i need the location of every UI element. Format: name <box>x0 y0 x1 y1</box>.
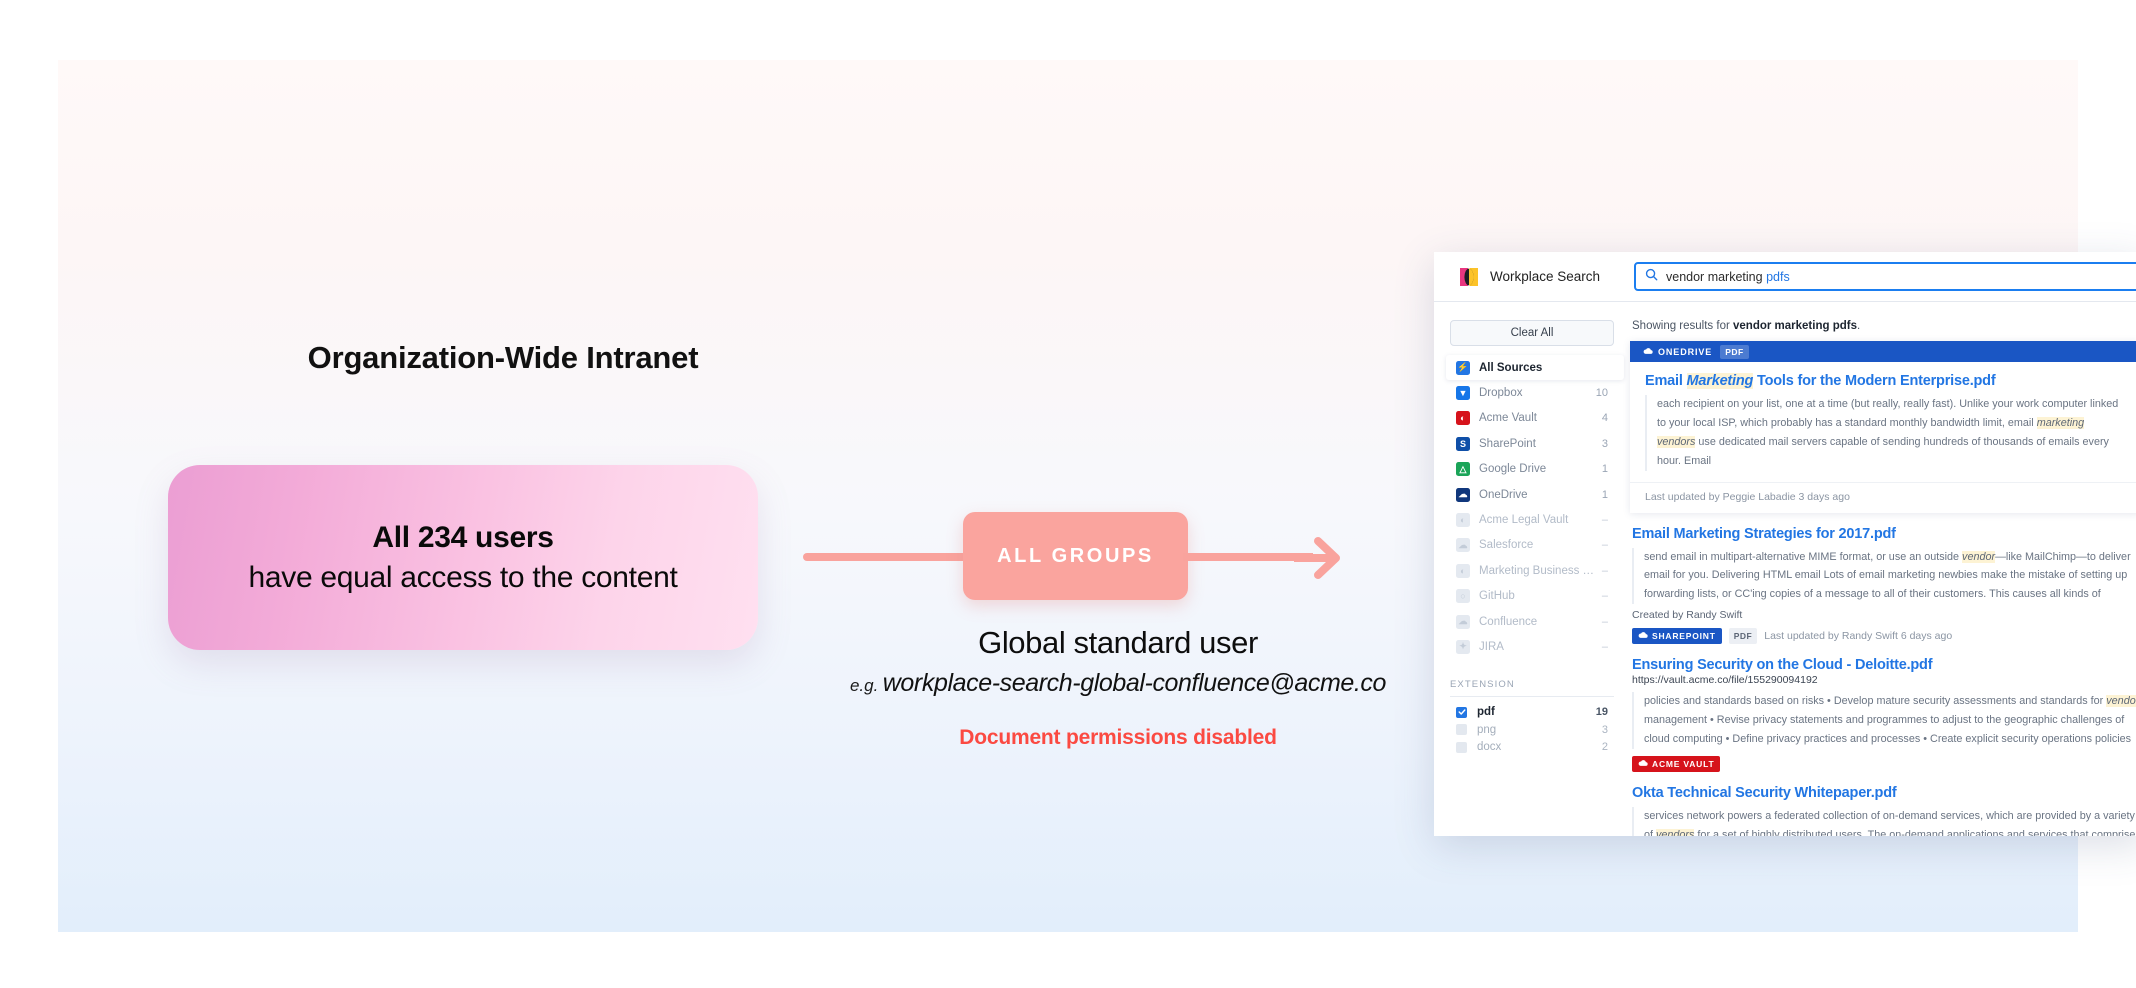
extension-count: 2 <box>1602 741 1608 753</box>
all-users-access-line: have equal access to the content <box>248 561 677 595</box>
source-label: Acme Legal Vault <box>1479 514 1596 526</box>
result-title[interactable]: Ensuring Security on the Cloud - Deloitt… <box>1632 657 2136 673</box>
source-count: – <box>1602 590 1608 602</box>
extension-filter-list: pdf19png3docx2 <box>1450 704 1614 757</box>
result-url[interactable]: https://vault.acme.co/file/155290094192 <box>1632 674 2136 686</box>
acme-legal-vault-icon: ◐ <box>1456 513 1470 527</box>
source-label: All Sources <box>1479 362 1612 374</box>
source-filter-dropbox[interactable]: ▼Dropbox10 <box>1450 380 1614 405</box>
global-user-example: e.g. workplace-search-global-confluence@… <box>818 669 1418 698</box>
showing-prefix: Showing results for <box>1632 320 1733 332</box>
pdf-badge: PDF <box>1720 345 1749 359</box>
source-label: Marketing Business Re... <box>1479 565 1596 577</box>
source-count: – <box>1602 539 1608 551</box>
results-pane: Showing results for vendor marketing pdf… <box>1630 302 2136 836</box>
source-count: 10 <box>1596 387 1608 399</box>
checkbox-icon[interactable] <box>1456 724 1467 735</box>
source-filter-acme-vault[interactable]: ◐Acme Vault4 <box>1450 406 1614 431</box>
source-filter-jira[interactable]: ✦JIRA– <box>1450 634 1614 659</box>
search-area: vendor marketing pdfs <box>1630 262 2136 291</box>
highlight: marketing vendors <box>1657 417 2084 448</box>
all-groups-label: ALL GROUPS <box>997 545 1154 568</box>
source-label: SharePoint <box>1479 438 1596 450</box>
source-chip-icon <box>1638 631 1648 641</box>
permissions-disabled-note: Document permissions disabled <box>818 726 1418 750</box>
highlight: vendor <box>1962 551 1995 563</box>
search-query-text: vendor marketing pdfs <box>1666 270 1790 284</box>
search-query-plain: vendor marketing <box>1666 270 1766 284</box>
global-user-title: Global standard user <box>818 625 1418 661</box>
source-chip-icon <box>1638 759 1648 769</box>
salesforce-icon: ☁ <box>1456 538 1470 552</box>
source-label: Acme Vault <box>1479 412 1596 424</box>
source-filter-salesforce[interactable]: ☁Salesforce– <box>1450 533 1614 558</box>
source-count: – <box>1602 565 1608 577</box>
all-users-card: All 234 users have equal access to the c… <box>168 465 758 650</box>
source-filter-all-sources[interactable]: ⚡All Sources <box>1446 355 1624 380</box>
result-card[interactable]: ONEDRIVEPDFEmail Marketing Tools for the… <box>1630 341 2136 513</box>
source-chip: ACME VAULT <box>1632 756 1720 772</box>
source-count: 1 <box>1602 463 1608 475</box>
result-updated-text: Last updated by Randy Swift 6 days ago <box>1764 630 1952 642</box>
result-title[interactable]: Email Marketing Tools for the Modern Ent… <box>1645 373 2125 389</box>
all-groups-badge: ALL GROUPS <box>963 512 1188 600</box>
result-snippet: send email in multipart-alternative MIME… <box>1632 548 2136 605</box>
app-body: Clear All ⚡All Sources▼Dropbox10◐Acme Va… <box>1434 302 2136 836</box>
result-title[interactable]: Okta Technical Security Whitepaper.pdf <box>1632 785 2136 801</box>
source-label: GitHub <box>1479 590 1596 602</box>
extension-count: 3 <box>1602 724 1608 736</box>
github-icon: ○ <box>1456 589 1470 603</box>
checkbox-icon[interactable] <box>1456 742 1467 753</box>
source-label: Google Drive <box>1479 463 1596 475</box>
showing-query: vendor marketing pdfs <box>1733 320 1857 332</box>
marketing-business-icon: ◐ <box>1456 564 1470 578</box>
source-label: Confluence <box>1479 616 1596 628</box>
source-filter-list: ⚡All Sources▼Dropbox10◐Acme Vault4SShare… <box>1450 355 1614 660</box>
source-count: – <box>1602 616 1608 628</box>
result-card[interactable]: Email Marketing Strategies for 2017.pdfs… <box>1630 526 2136 645</box>
source-filter-marketing-business-re[interactable]: ◐Marketing Business Re...– <box>1450 558 1614 583</box>
result-footer: Last updated by Peggie Labadie 3 days ag… <box>1630 482 2136 513</box>
source-count: – <box>1602 641 1608 653</box>
showing-results-text: Showing results for vendor marketing pdf… <box>1630 320 2136 332</box>
dropbox-icon: ▼ <box>1456 386 1470 400</box>
illustration-canvas: Organization-Wide Intranet All 234 users… <box>58 60 2078 932</box>
flow-arrow-group: ALL GROUPS <box>803 512 1423 602</box>
bolt-icon: ⚡ <box>1456 361 1470 375</box>
result-meta-row: SHAREPOINTPDFLast updated by Randy Swift… <box>1632 628 2136 644</box>
clear-all-button[interactable]: Clear All <box>1450 320 1614 346</box>
source-badge-label: ONEDRIVE <box>1643 347 1712 357</box>
eg-email-address: workplace-search-global-confluence@acme.… <box>883 669 1386 697</box>
source-count: – <box>1602 514 1608 526</box>
source-filter-github[interactable]: ○GitHub– <box>1450 584 1614 609</box>
jira-icon: ✦ <box>1456 640 1470 654</box>
result-source-bar: ONEDRIVEPDF <box>1630 341 2136 362</box>
search-query-keyword: pdfs <box>1766 270 1790 284</box>
source-count: 1 <box>1602 489 1608 501</box>
app-header: Workplace Search vendor marketing pdfs <box>1434 252 2136 302</box>
source-label: Salesforce <box>1479 539 1596 551</box>
result-snippet: services network powers a federated coll… <box>1632 807 2136 836</box>
extension-filter-png[interactable]: png3 <box>1450 721 1614 739</box>
highlight: vendors <box>1656 829 1694 836</box>
source-filter-confluence[interactable]: ☁Confluence– <box>1450 609 1614 634</box>
brand-name: Workplace Search <box>1490 269 1600 284</box>
source-label: Dropbox <box>1479 387 1590 399</box>
pdf-badge: PDF <box>1729 628 1758 644</box>
result-title[interactable]: Email Marketing Strategies for 2017.pdf <box>1632 526 2136 542</box>
highlight: vendor <box>2106 695 2136 707</box>
checkbox-checked-icon[interactable] <box>1456 707 1467 718</box>
result-snippet: policies and standards based on risks • … <box>1632 692 2136 749</box>
source-count: 3 <box>1602 438 1608 450</box>
result-created-by: Created by Randy Swift <box>1632 609 2136 621</box>
workplace-search-logo-icon <box>1458 266 1480 288</box>
extension-label: pdf <box>1477 706 1596 718</box>
result-card[interactable]: Okta Technical Security Whitepaper.pdfse… <box>1630 785 2136 836</box>
result-body: Email Marketing Tools for the Modern Ent… <box>1630 362 2136 471</box>
result-card[interactable]: Ensuring Security on the Cloud - Deloitt… <box>1630 657 2136 772</box>
sharepoint-icon: S <box>1456 437 1470 451</box>
extension-filter-pdf[interactable]: pdf19 <box>1450 704 1614 722</box>
all-users-count-line: All 234 users <box>372 521 553 555</box>
extension-count: 19 <box>1596 706 1608 718</box>
highlight: Marketing <box>1687 373 1754 389</box>
source-filter-acme-legal-vault[interactable]: ◐Acme Legal Vault– <box>1450 507 1614 532</box>
acme-vault-icon: ◐ <box>1456 411 1470 425</box>
source-chip: SHAREPOINT <box>1632 628 1722 644</box>
extension-label: docx <box>1477 741 1602 753</box>
confluence-icon: ☁ <box>1456 615 1470 629</box>
org-title: Organization-Wide Intranet <box>178 340 818 376</box>
result-list: ONEDRIVEPDFEmail Marketing Tools for the… <box>1630 341 2136 836</box>
source-label: JIRA <box>1479 641 1596 653</box>
source-filter-google-drive[interactable]: △Google Drive1 <box>1450 457 1614 482</box>
arrow-head-icon <box>1290 530 1346 586</box>
extension-filter-docx[interactable]: docx2 <box>1450 739 1614 757</box>
source-count: 4 <box>1602 412 1608 424</box>
workplace-search-window: Workplace Search vendor marketing pdfs <box>1434 252 2136 836</box>
showing-suffix: . <box>1857 320 1860 332</box>
search-input[interactable]: vendor marketing pdfs <box>1634 262 2136 291</box>
onedrive-icon: ☁ <box>1456 488 1470 502</box>
source-label: OneDrive <box>1479 489 1596 501</box>
google-drive-icon: △ <box>1456 462 1470 476</box>
source-filter-onedrive[interactable]: ☁OneDrive1 <box>1450 482 1614 507</box>
result-snippet: each recipient on your list, one at a ti… <box>1645 395 2125 471</box>
org-section: Organization-Wide Intranet <box>178 340 818 376</box>
search-icon <box>1645 268 1658 286</box>
brand: Workplace Search <box>1434 266 1630 288</box>
eg-label: e.g. <box>850 676 878 695</box>
result-meta-row: ACME VAULT <box>1632 756 2136 772</box>
extension-section-header: EXTENSION <box>1450 679 1614 697</box>
filters-sidebar: Clear All ⚡All Sources▼Dropbox10◐Acme Va… <box>1434 302 1630 836</box>
cloud-icon <box>1643 347 1653 357</box>
source-filter-sharepoint[interactable]: SSharePoint3 <box>1450 431 1614 456</box>
extension-label: png <box>1477 724 1602 736</box>
global-user-section: Global standard user e.g. workplace-sear… <box>818 625 1418 750</box>
